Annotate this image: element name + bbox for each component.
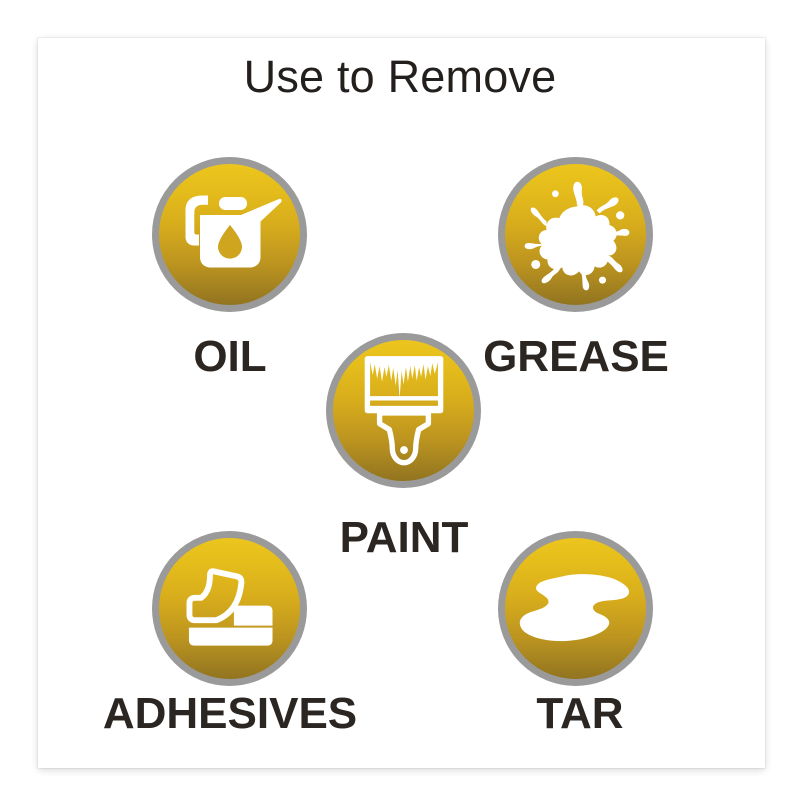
label-paint: PAINT: [300, 516, 508, 560]
use-to-remove-infographic: Use to Remove OIL: [0, 0, 800, 800]
badge-paint[interactable]: [326, 333, 481, 488]
label-adhesives: ADHESIVES: [50, 692, 410, 736]
badge-adhesives[interactable]: [152, 531, 307, 686]
page-title: Use to Remove: [0, 54, 800, 99]
tar-puddle-icon: [517, 573, 635, 645]
badge-grease[interactable]: [498, 157, 653, 312]
oil-can-icon: [178, 193, 282, 277]
badge-tar[interactable]: [498, 531, 653, 686]
badge-oil[interactable]: [152, 157, 307, 312]
grease-splatter-icon: [522, 181, 630, 289]
boot-icon: [178, 566, 282, 652]
paint-brush-icon: [363, 355, 445, 467]
label-grease: GREASE: [460, 335, 692, 379]
label-tar: TAR: [470, 692, 690, 736]
label-oil: OIL: [120, 335, 340, 379]
